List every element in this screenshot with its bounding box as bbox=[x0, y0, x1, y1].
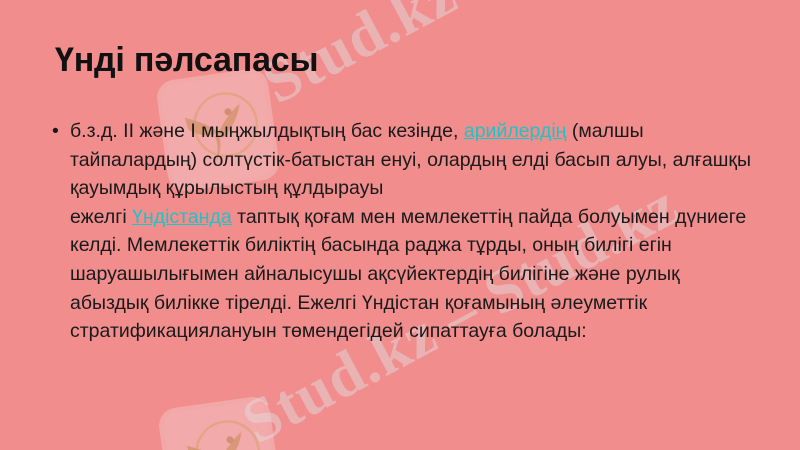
bullet-marker-icon: • bbox=[52, 117, 59, 146]
hummingbird-logo-watermark-bottom bbox=[161, 399, 278, 450]
bullet-list-item: • б.з.д. II және I мыңжылдықтың бас кезі… bbox=[48, 117, 760, 346]
body-hyperlink[interactable]: Үндістанда bbox=[132, 206, 232, 228]
bullet-paragraph-text: б.з.д. II және I мыңжылдықтың бас кезінд… bbox=[70, 120, 751, 342]
body-text-run: ежелгі bbox=[70, 206, 132, 228]
presentation-slide: Stud.kz – Stud.kz Stud.kz – Stud.kz Үнді… bbox=[0, 0, 800, 450]
body-text-run: б.з.д. II және I мыңжылдықтың бас кезінд… bbox=[70, 120, 464, 142]
slide-title: Үнді пәлсапасы bbox=[55, 41, 755, 80]
body-hyperlink[interactable]: арийлердің bbox=[464, 120, 567, 142]
slide-body: • б.з.д. II және I мыңжылдықтың бас кезі… bbox=[48, 117, 760, 346]
